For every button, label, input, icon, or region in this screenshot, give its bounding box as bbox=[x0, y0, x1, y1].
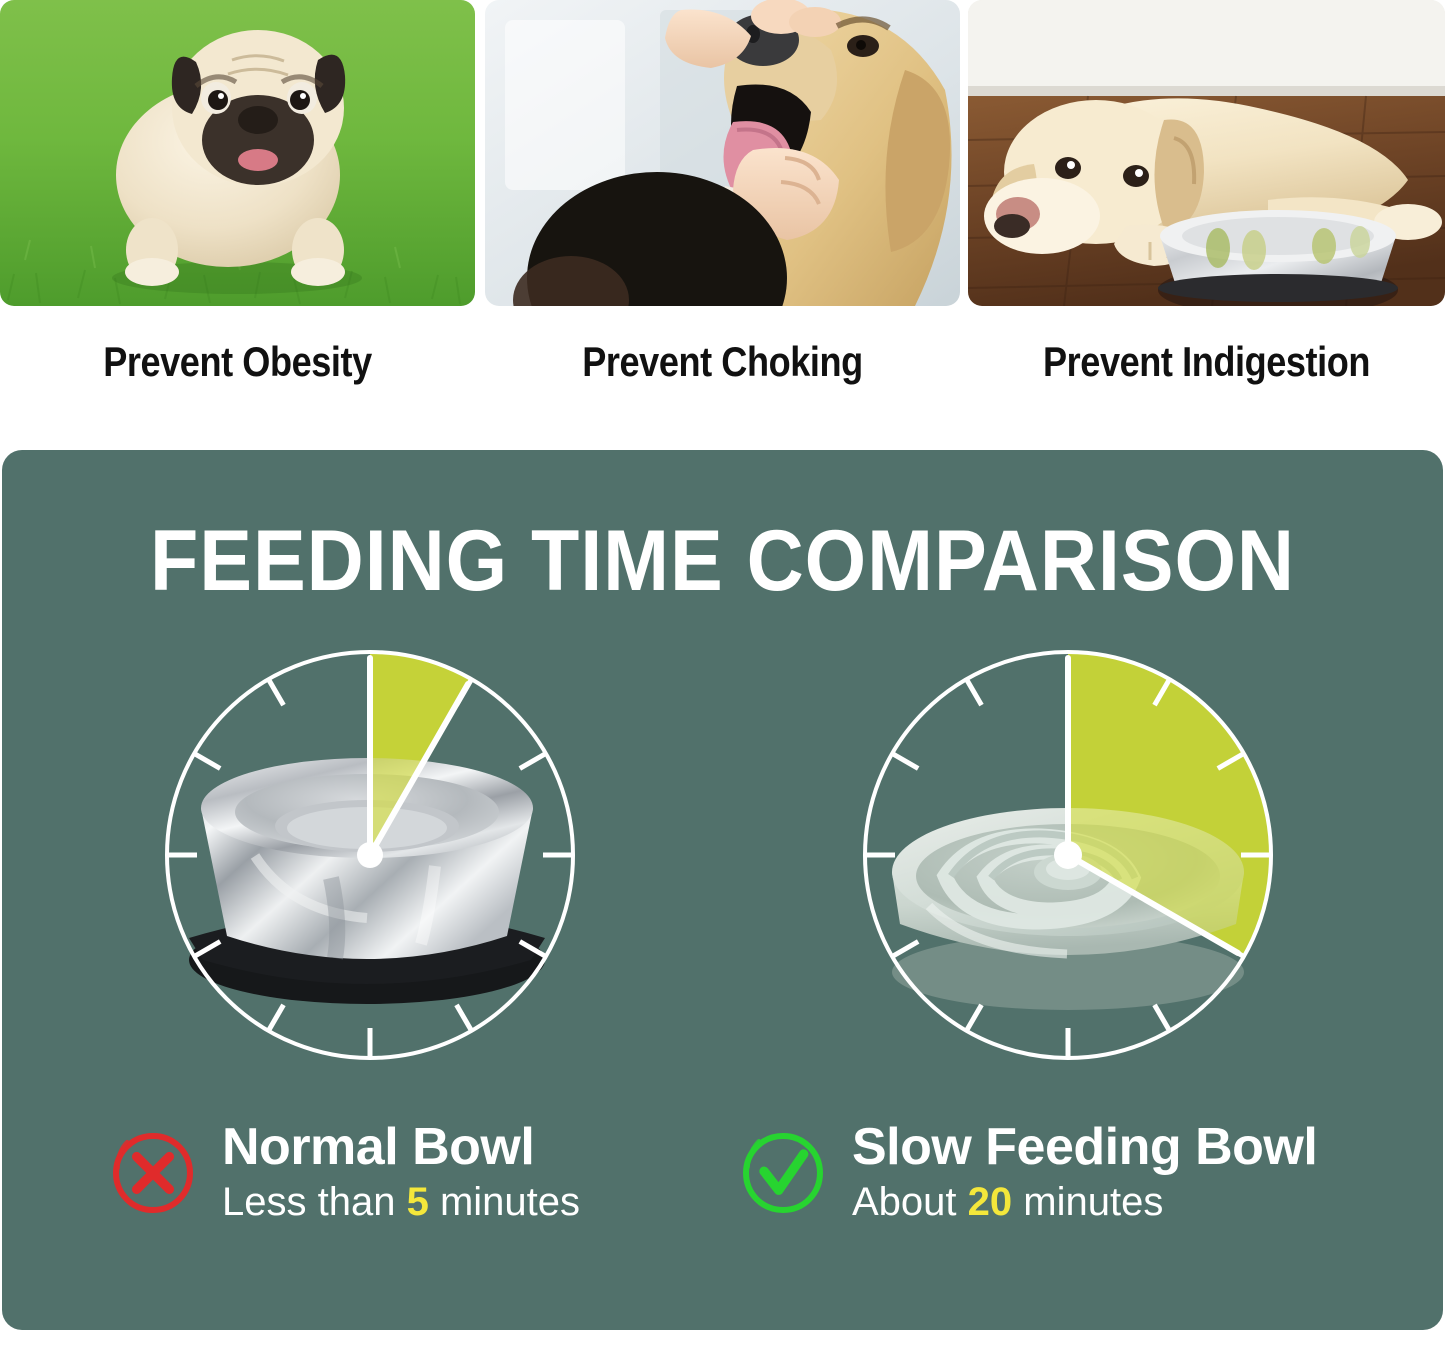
indigestion-illustration bbox=[968, 0, 1445, 306]
benefit-caption: Prevent Obesity bbox=[33, 338, 442, 386]
benefit-caption: Prevent Indigestion bbox=[1001, 338, 1411, 386]
result-time: Less than 5 minutes bbox=[222, 1179, 580, 1226]
benefits-strip: Prevent Obesity bbox=[0, 0, 1445, 420]
slow-feeding-bowl-clock bbox=[833, 620, 1303, 1090]
result-title: Slow Feeding Bowl bbox=[852, 1120, 1317, 1175]
result-time-suffix: minutes bbox=[1012, 1180, 1163, 1224]
result-time-prefix: About bbox=[852, 1180, 968, 1224]
cross-icon bbox=[110, 1130, 196, 1216]
slow-bowl-clock-graphic bbox=[833, 620, 1303, 1090]
pug-illustration bbox=[0, 0, 475, 306]
clock-center-hub bbox=[357, 842, 383, 868]
result-time-suffix: minutes bbox=[429, 1180, 580, 1224]
normal-bowl-clock-graphic bbox=[135, 620, 605, 1090]
result-slow-feeding-bowl: Slow Feeding Bowl About 20 minutes bbox=[740, 1120, 1317, 1226]
labrador-with-bowl-photo bbox=[968, 0, 1445, 306]
benefit-card-indigestion: Prevent Indigestion bbox=[968, 0, 1445, 306]
choking-illustration bbox=[485, 0, 960, 306]
overweight-pug-photo bbox=[0, 0, 475, 306]
feeding-time-comparison-panel: FEEDING TIME COMPARISON bbox=[2, 450, 1443, 1330]
clock-center-hub bbox=[1054, 841, 1082, 869]
normal-bowl-clock bbox=[135, 620, 605, 1090]
result-text: Slow Feeding Bowl About 20 minutes bbox=[852, 1120, 1317, 1226]
result-text: Normal Bowl Less than 5 minutes bbox=[222, 1120, 580, 1226]
result-time-value: 5 bbox=[407, 1180, 429, 1224]
result-labels-row: Normal Bowl Less than 5 minutes Slow Fee… bbox=[2, 1120, 1443, 1290]
result-time-value: 20 bbox=[968, 1180, 1013, 1224]
benefit-card-choking: Prevent Choking bbox=[485, 0, 960, 306]
benefit-caption: Prevent Choking bbox=[518, 338, 927, 386]
check-icon bbox=[740, 1130, 826, 1216]
clock-comparison-row bbox=[2, 620, 1443, 1090]
result-title: Normal Bowl bbox=[222, 1120, 580, 1175]
result-time: About 20 minutes bbox=[852, 1179, 1317, 1226]
vet-checking-dog-mouth-photo bbox=[485, 0, 960, 306]
page-title: FEEDING TIME COMPARISON bbox=[60, 512, 1386, 611]
result-time-prefix: Less than bbox=[222, 1180, 407, 1224]
benefit-card-obesity: Prevent Obesity bbox=[0, 0, 475, 306]
result-normal-bowl: Normal Bowl Less than 5 minutes bbox=[110, 1120, 580, 1226]
